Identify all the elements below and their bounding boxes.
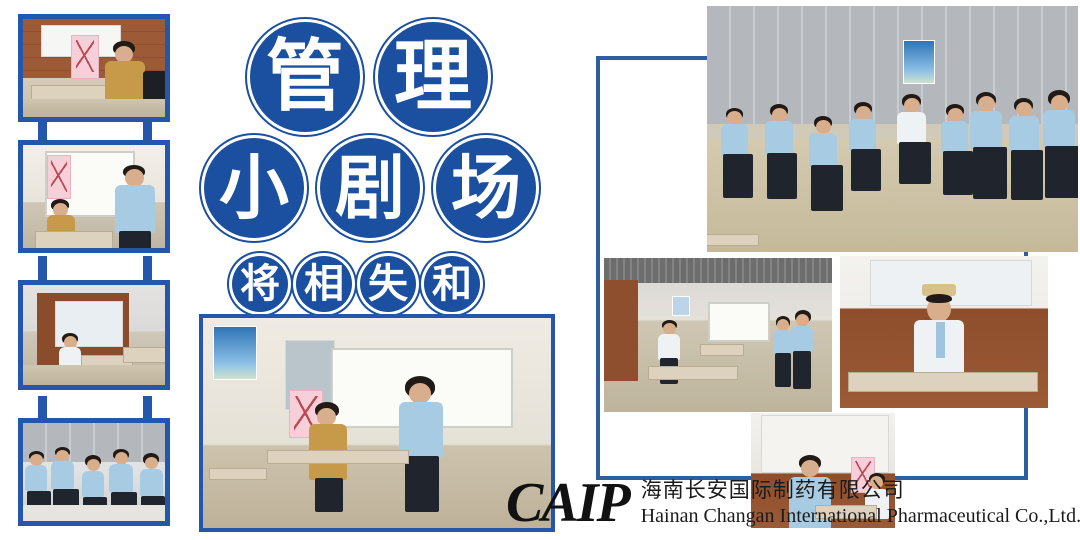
photo-seated-audience-row [23, 423, 165, 521]
photo-whiteboard-discussion [23, 145, 165, 248]
title-char-ju: 剧 [335, 153, 405, 223]
sign-shenzuanzi-2 [47, 155, 71, 199]
title-line-2: 小 剧 场 [204, 138, 536, 238]
left-photo-frame-1 [18, 14, 170, 122]
center-photo-frame [199, 314, 555, 532]
title-circle-8: 失 [360, 256, 416, 312]
title-circle-1: 管 [250, 22, 360, 132]
left-photo-frame-3 [18, 280, 170, 390]
title-char-jiang: 将 [240, 264, 280, 304]
company-names: 海南长安国际制药有限公司 Hainan Changan Internationa… [641, 474, 1080, 528]
photo-roleplay-whiteboard [203, 318, 551, 528]
left-photo-frame-4 [18, 418, 170, 526]
photo-classroom-three-people [604, 258, 832, 412]
left-connector-2b [143, 256, 152, 280]
company-name-en: Hainan Changan International Pharmaceuti… [641, 505, 1080, 528]
title-line-1: 管 理 [250, 22, 488, 132]
company-name-cn: 海南长安国际制药有限公司 [641, 474, 1080, 504]
title-char-xiao: 小 [219, 153, 289, 223]
left-connector-2 [38, 256, 47, 280]
left-connector-3b [143, 396, 152, 418]
title-circle-7: 相 [296, 256, 352, 312]
title-circle-3: 小 [204, 138, 304, 238]
title-char-li: 理 [394, 38, 472, 116]
caip-wordmark: CAIP [506, 478, 629, 530]
title-circle-2: 理 [378, 22, 488, 132]
photo-audience-applause-wide [707, 6, 1078, 252]
title-circle-5: 场 [436, 138, 536, 238]
photo-man-with-sign [23, 19, 165, 117]
sign-shenzuanzi-1 [71, 35, 99, 79]
photo-man-at-desk-hat [840, 256, 1048, 408]
title-char-chang: 场 [451, 153, 521, 223]
company-logo: CAIP 海南长安国际制药有限公司 Hainan Changan Interna… [506, 474, 1080, 530]
title-char-xiang: 相 [304, 264, 344, 304]
photo-presenter-projector [23, 285, 165, 385]
title-circle-4: 剧 [320, 138, 420, 238]
title-char-he: 和 [432, 264, 472, 304]
title-circle-6: 将 [232, 256, 288, 312]
left-connector-3 [38, 396, 47, 418]
title-char-guan: 管 [266, 38, 344, 116]
left-photo-frame-2 [18, 140, 170, 253]
poster-title: 管 理 小 剧 场 将 相 失 [196, 10, 536, 310]
wall-frame-picture [903, 40, 935, 84]
title-char-shi: 失 [368, 264, 408, 304]
table [267, 450, 409, 464]
title-circle-9: 和 [424, 256, 480, 312]
wall-poster [213, 326, 257, 380]
title-line-3: 将 相 失 和 [232, 256, 480, 312]
poster-canvas: 管 理 小 剧 场 将 相 失 [0, 0, 1080, 540]
